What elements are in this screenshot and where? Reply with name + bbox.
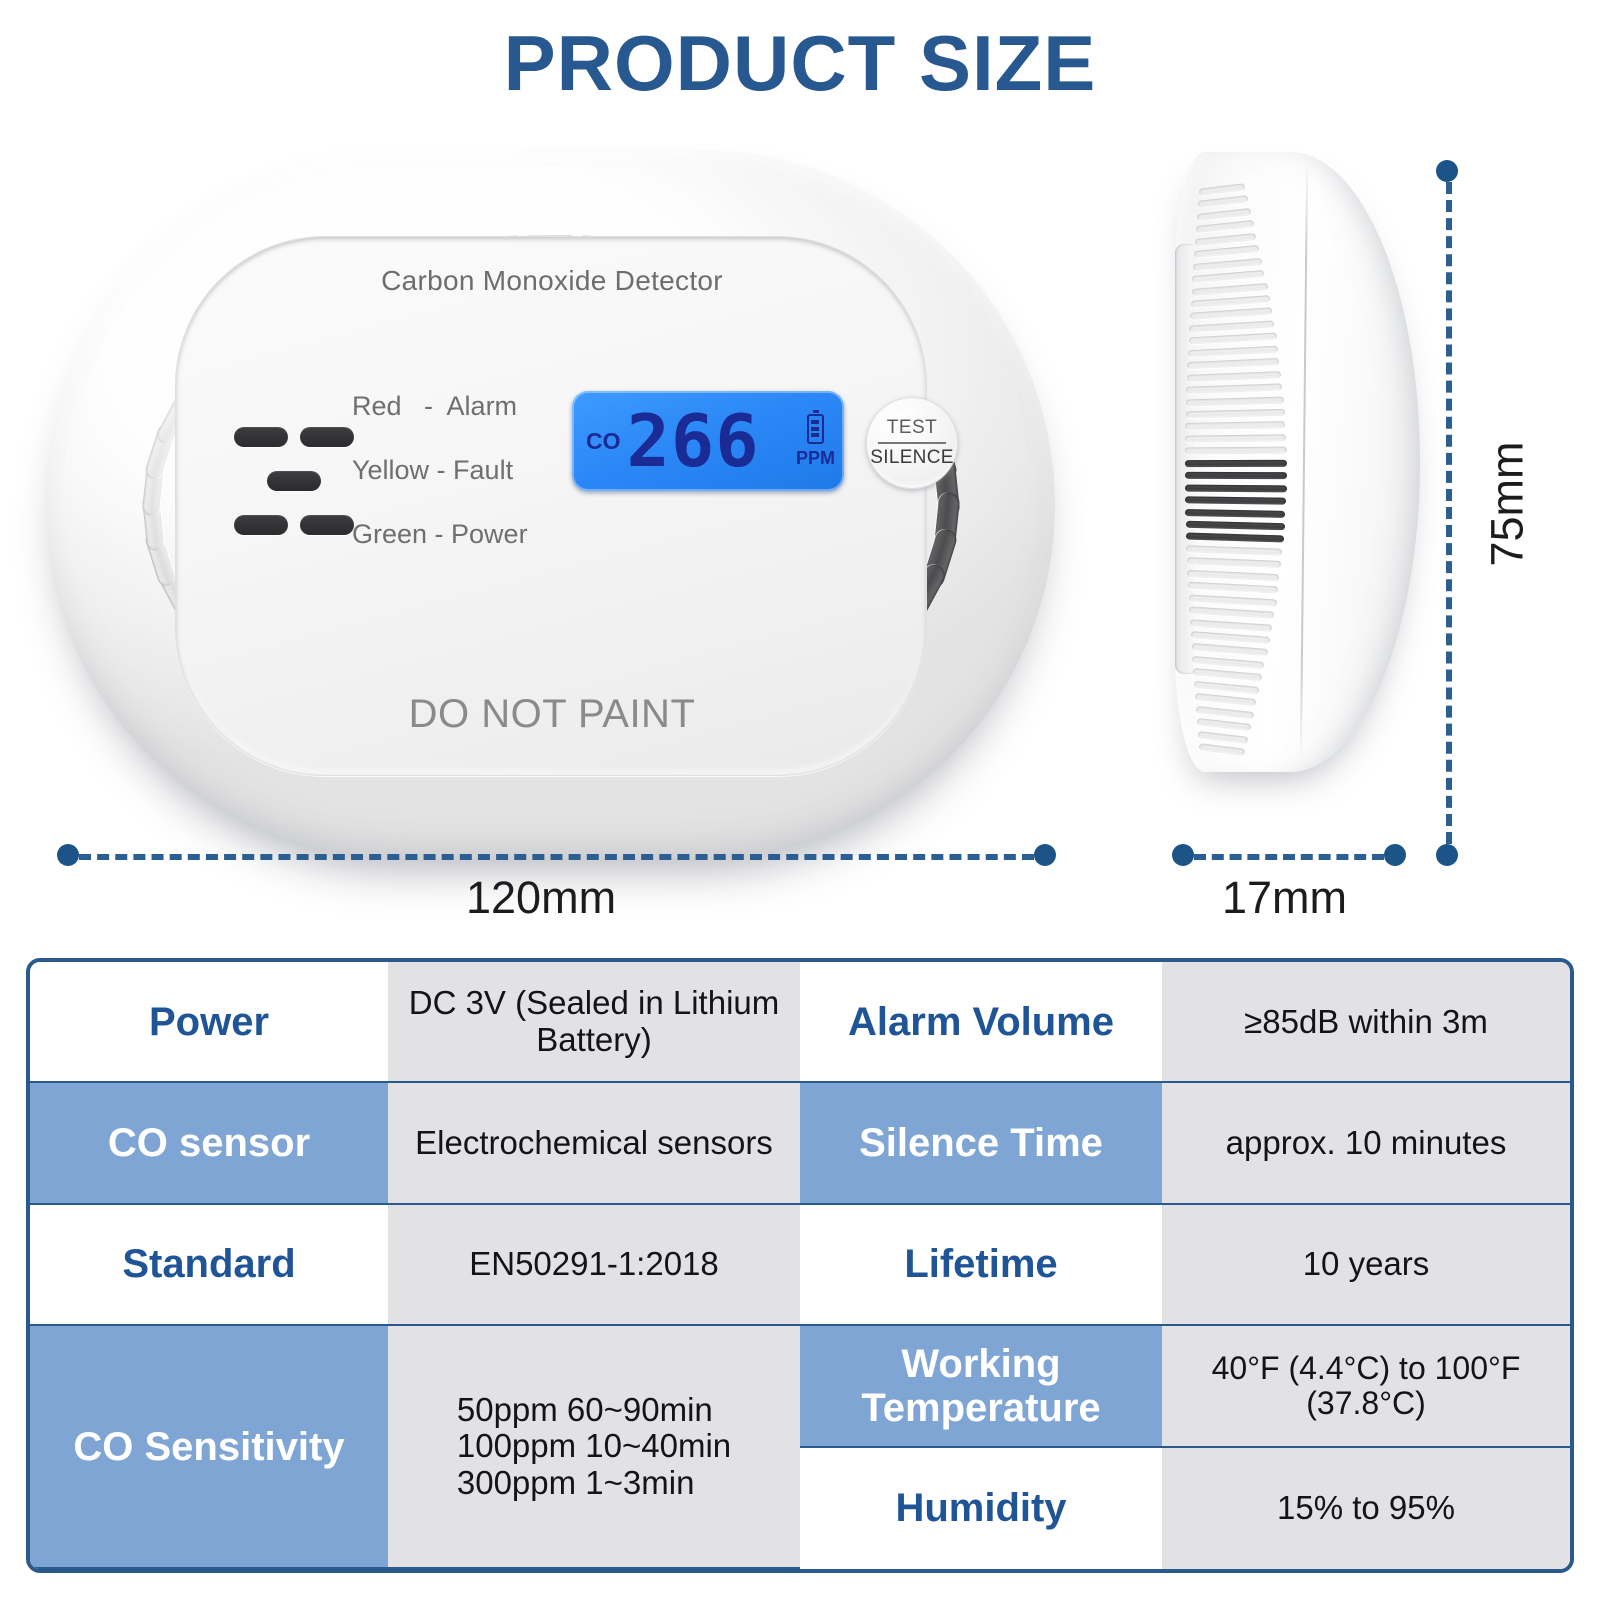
lcd-display: CO 266 PPM [572,391,844,491]
dim-dot-height-bottom [1436,844,1458,866]
side-vent-slot [1194,245,1260,258]
spec-value-silence-time: approx. 10 minutes [1162,1083,1570,1204]
sensitivity-line-3: 300ppm 1~3min [457,1465,731,1501]
side-vent-slot [1197,718,1251,731]
silence-label: SILENCE [870,447,953,469]
co-sensitivity-label: CO Sensitivity [73,1425,344,1469]
side-vent-slot [1190,308,1272,321]
side-vent-slot [1193,668,1262,681]
speaker-grille-icon [234,427,354,537]
side-vent-slot [1198,196,1248,209]
side-vent-slot [1191,631,1270,644]
side-vent-slot [1189,320,1274,332]
dim-label-height: 75mm [1482,441,1534,566]
side-vent-slot [1196,706,1254,719]
side-vent-slot [1192,656,1265,669]
spec-value-working-temperature: 40°F (4.4°C) to 100°F (37.8°C) [1162,1326,1570,1447]
dim-label-depth: 17mm [1222,872,1347,924]
sensitivity-line-1: 50ppm 60~90min [457,1392,731,1428]
side-vent-slot [1199,183,1246,196]
spec-value-humidity: 15% to 95% [1162,1448,1570,1569]
product-brand-label: Carbon Monoxide Detector [176,265,928,297]
dim-line-depth [1194,854,1384,860]
side-vent-slot [1197,208,1251,221]
side-vent-slot [1193,258,1262,271]
detector-front-face: Carbon Monoxide Detector Red - Alarm Yel… [175,236,927,776]
side-vent-slot [1198,731,1248,744]
lcd-ppm-reading: 266 [627,409,760,474]
side-vent-slot [1188,333,1276,345]
side-vent-slot [1186,409,1285,418]
button-divider [878,442,946,444]
side-vent-slot [1195,233,1257,246]
lcd-unit-label: PPM [796,448,835,469]
side-vent-slot-open [1186,521,1285,530]
battery-full-icon [807,414,824,444]
dim-dot-width-right [1034,844,1056,866]
page-title: PRODUCT SIZE [0,18,1600,109]
side-vent-slot-open [1185,509,1285,518]
spec-label-standard: Standard [30,1205,388,1326]
spec-value-co-sensor: Electrochemical sensors [388,1083,800,1204]
side-vent-slot [1191,283,1267,296]
side-vent-slot [1185,421,1285,430]
side-vent-slot [1186,383,1283,393]
dim-line-height [1446,182,1452,844]
legend-item-green: Green - Power [352,521,582,548]
side-vent-slot-open [1185,472,1287,479]
detector-front-view: Carbon Monoxide Detector Red - Alarm Yel… [45,150,1055,860]
side-vent-slot-open [1186,533,1284,543]
test-label: TEST [887,417,938,439]
side-vent-slot [1188,594,1276,606]
dim-dot-depth-left [1172,844,1194,866]
spec-value-lifetime: 10 years [1162,1205,1570,1326]
spec-label-lifetime: Lifetime [800,1205,1162,1326]
spec-label-alarm-volume: Alarm Volume [800,962,1162,1083]
side-vent-slot-open [1185,460,1287,467]
side-vent-slot [1185,447,1287,455]
sensitivity-line-2: 100ppm 10~40min [457,1428,731,1464]
lcd-status-cluster: PPM [796,414,835,469]
test-silence-button[interactable]: TEST SILENCE [866,397,958,489]
side-vent-slot-open [1185,484,1287,492]
legend-item-yellow: Yellow - Fault [352,457,582,484]
side-vent-slot [1188,345,1278,357]
spec-label-silence-time: Silence Time [800,1083,1162,1204]
spec-label-co-sensor: CO sensor [30,1083,388,1204]
spec-label-humidity: Humidity [800,1448,1162,1569]
side-vent-slot [1187,358,1280,369]
side-vent-slot [1191,643,1267,656]
spec-label-power: Power [30,962,388,1083]
spec-value-power: DC 3V (Sealed in Lithium Battery) [388,962,800,1083]
lcd-gas-label: CO [586,428,621,455]
spec-label-co-sensitivity: CO Sensitivity [30,1326,388,1569]
specification-table: Power DC 3V (Sealed in Lithium Battery) … [26,958,1574,1573]
spec-value-co-sensitivity: 50ppm 60~90min 100ppm 10~40min 300ppm 1~… [388,1326,800,1569]
side-vent-slot [1187,371,1282,382]
side-vent-slot [1195,693,1257,706]
ventilation-slots-icon [1181,186,1291,746]
spec-label-working-temperature: Working Temperature [800,1326,1162,1447]
side-vent-slot [1187,570,1280,581]
legend-item-red: Red - Alarm [352,393,582,420]
dim-label-width: 120mm [466,872,616,924]
side-vent-slot-open [1185,496,1286,504]
do-not-paint-warning: DO NOT PAINT [176,692,928,737]
side-vent-slot [1186,545,1283,555]
spec-value-alarm-volume: ≥85dB within 3m [1162,962,1570,1083]
led-legend: Red - Alarm Yellow - Fault Green - Power [352,393,582,585]
side-vent-slot [1190,619,1272,632]
dim-dot-depth-right [1384,844,1406,866]
spec-value-standard: EN50291-1:2018 [388,1205,800,1326]
detector-side-view [1175,152,1420,772]
side-vent-slot [1194,681,1260,694]
side-vent-slot [1189,606,1274,618]
product-illustration-area: Carbon Monoxide Detector Red - Alarm Yel… [0,130,1600,940]
side-vent-slot [1187,557,1282,568]
side-vent-slot [1185,434,1286,442]
side-vent-slot [1186,396,1284,406]
side-vent-slot [1191,295,1270,308]
side-vent-slot [1196,220,1254,233]
side-vent-slot [1188,582,1278,594]
side-vent-slot [1192,270,1265,283]
dim-dot-height-top [1436,160,1458,182]
dim-line-width [79,854,1034,860]
dim-dot-width-left [57,844,79,866]
